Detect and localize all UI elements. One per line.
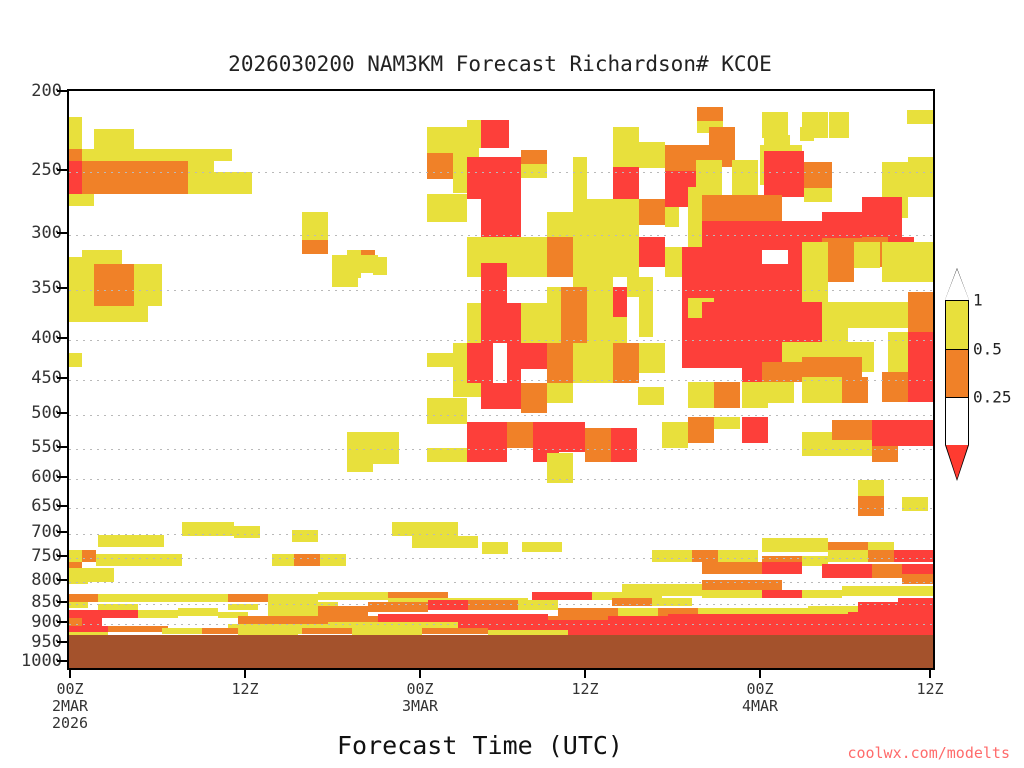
heatmap-cell: [88, 568, 114, 582]
heatmap-cell: [68, 149, 82, 161]
heatmap-cell: [208, 522, 234, 536]
heatmap-cell: [862, 197, 902, 237]
heatmap-cell: [178, 608, 218, 616]
heatmap-cell: [82, 550, 96, 562]
heatmap-cell: [182, 522, 208, 536]
y-tick-label-750: 750: [0, 546, 62, 566]
heatmap-cell: [547, 343, 573, 383]
heatmap-cells: [69, 91, 933, 668]
heatmap-cell: [68, 602, 88, 608]
heatmap-cell: [68, 568, 88, 584]
heatmap-cell: [268, 606, 318, 616]
heatmap-cell: [868, 550, 894, 562]
colorbar-segment-0.25: [945, 397, 969, 445]
heatmap-cell: [652, 550, 692, 562]
heatmap-cell: [532, 592, 592, 600]
heatmap-cell: [872, 420, 898, 446]
heatmap-cell: [638, 387, 664, 405]
heatmap-cell: [908, 157, 934, 197]
heatmap-cell: [894, 550, 934, 562]
heatmap-cell: [622, 584, 672, 596]
y-tick-mark: [57, 90, 67, 92]
y-tick-mark: [57, 232, 67, 234]
y-tick-label-350: 350: [0, 278, 62, 298]
heatmap-cell: [613, 199, 639, 237]
heatmap-cell: [908, 242, 934, 282]
x-tick-mark: [929, 670, 931, 678]
colorbar-label-0.5: 0.5: [973, 340, 1002, 359]
y-tick-label-700: 700: [0, 522, 62, 542]
heatmap-cell: [613, 127, 639, 167]
y-tick-label-600: 600: [0, 467, 62, 487]
heatmap-cell: [467, 343, 493, 383]
heatmap-cell: [507, 422, 533, 448]
heatmap-cell: [82, 161, 188, 194]
heatmap-cell: [318, 592, 388, 600]
heatmap-cell: [467, 422, 507, 462]
heatmap-cell: [872, 446, 898, 462]
heatmap-cell: [98, 535, 138, 547]
heatmap-cell: [481, 199, 521, 237]
watermark-link[interactable]: coolwx.com/modelts: [847, 744, 1010, 762]
heatmap-cell: [613, 167, 639, 199]
heatmap-cell: [842, 377, 868, 403]
heatmap-cell: [481, 120, 509, 148]
colorbar-under-arrow: [946, 445, 968, 479]
heatmap-cell: [428, 600, 468, 610]
colorbar-label-1: 1: [973, 291, 983, 310]
heatmap-cell: [702, 580, 742, 590]
heatmap-cell: [507, 237, 547, 277]
colorbar-divider: [945, 300, 969, 301]
y-tick-mark: [57, 337, 67, 339]
y-tick-mark: [57, 287, 67, 289]
heatmap-cell: [156, 554, 182, 566]
heatmap-cell: [521, 383, 547, 413]
heatmap-cell: [714, 417, 740, 429]
heatmap-cell: [427, 153, 453, 179]
y-tick-mark: [57, 446, 67, 448]
heatmap-cell: [68, 161, 82, 194]
heatmap-cell: [82, 250, 122, 264]
heatmap-cell: [427, 398, 467, 424]
colorbar-segment-0.5: [945, 349, 969, 397]
heatmap-cell: [320, 554, 346, 566]
heatmap-cell: [481, 383, 521, 409]
heatmap-cell: [764, 151, 804, 197]
heatmap-cell: [902, 574, 934, 584]
heatmap-cell: [202, 628, 238, 634]
heatmap-cell: [898, 420, 934, 446]
heatmap-cell: [828, 242, 854, 282]
y-tick-mark: [57, 555, 67, 557]
colorbar-over-arrow: [945, 269, 969, 300]
heatmap-cell: [547, 383, 573, 403]
heatmap-cell: [302, 628, 352, 634]
y-tick-label-650: 650: [0, 496, 62, 516]
colorbar-segment-1: [945, 300, 969, 349]
heatmap-cell: [388, 592, 448, 598]
y-tick-mark: [57, 377, 67, 379]
heatmap-cell: [228, 604, 258, 610]
heatmap-cell: [68, 306, 134, 322]
x-axis-title: Forecast Time (UTC): [180, 731, 780, 760]
heatmap-cell: [892, 586, 934, 596]
heatmap-cell: [728, 614, 788, 622]
heatmap-cell: [639, 297, 653, 337]
heatmap-cell: [521, 150, 547, 164]
heatmap-cell: [332, 255, 358, 287]
heatmap-cell: [368, 602, 428, 612]
heatmap-cell: [802, 357, 862, 377]
heatmap-cell: [427, 353, 453, 367]
heatmap-cell: [832, 440, 872, 456]
heatmap-cell: [82, 264, 94, 306]
heatmap-cell: [238, 616, 308, 624]
heatmap-cell: [611, 428, 637, 462]
heatmap-cell: [742, 382, 768, 408]
heatmap-cell: [714, 382, 740, 408]
heatmap-cell: [639, 199, 665, 225]
heatmap-cell: [573, 237, 587, 287]
x-tick-mark: [69, 670, 71, 678]
heatmap-cell: [618, 608, 658, 616]
heatmap-cell: [438, 536, 478, 548]
heatmap-cell: [762, 562, 802, 574]
heatmap-cell: [98, 610, 138, 618]
heatmap-cell: [134, 284, 162, 306]
heatmap-cell: [800, 127, 814, 141]
heatmap-cell: [639, 343, 665, 373]
heatmap-cell: [468, 600, 518, 610]
heatmap-cell: [482, 542, 508, 554]
heatmap-cell: [688, 417, 714, 443]
heatmap-cell: [68, 194, 94, 206]
y-tick-label-900: 900: [0, 612, 62, 632]
heatmap-cell: [432, 522, 458, 536]
y-tick-label-450: 450: [0, 368, 62, 388]
heatmap-cell: [521, 164, 547, 178]
heatmap-cell: [68, 618, 82, 626]
heatmap-cell: [802, 590, 842, 598]
heatmap-cell: [559, 422, 585, 452]
heatmap-cell: [573, 157, 587, 209]
heatmap-cell: [665, 207, 679, 227]
x-tick-label-2: 00Z 3MAR: [402, 681, 438, 715]
heatmap-cell: [828, 550, 868, 562]
y-tick-mark: [57, 601, 67, 603]
y-tick-label-950: 950: [0, 632, 62, 652]
heatmap-cell: [467, 303, 481, 343]
heatmap-cell: [82, 618, 102, 626]
heatmap-cell: [804, 188, 832, 202]
heatmap-cell: [467, 120, 481, 148]
y-tick-mark: [57, 412, 67, 414]
heatmap-cell: [882, 372, 908, 402]
y-tick-mark: [57, 531, 67, 533]
heatmap-cell: [908, 332, 934, 372]
terrain-ground-fill: [69, 635, 933, 668]
heatmap-cell: [392, 522, 432, 536]
colorbar-bottom-edge: [945, 397, 969, 398]
x-tick-mark: [419, 670, 421, 678]
y-tick-mark: [57, 505, 67, 507]
y-tick-mark: [57, 621, 67, 623]
heatmap-cell: [662, 422, 688, 448]
heatmap-cell: [268, 594, 318, 602]
heatmap-cell: [802, 377, 842, 403]
heatmap-cell: [742, 417, 768, 443]
y-tick-label-250: 250: [0, 160, 62, 180]
heatmap-cell: [68, 353, 82, 367]
heatmap-cell: [427, 448, 467, 462]
heatmap-cell: [872, 564, 902, 578]
heatmap-cell: [612, 598, 652, 606]
x-tick-mark: [584, 670, 586, 678]
colorbar: 10.50.25: [945, 300, 969, 445]
heatmap-cell: [302, 212, 328, 240]
heatmap-cell: [613, 343, 639, 383]
chart-title: 2026030200 NAM3KM Forecast Richardson# K…: [0, 52, 1000, 76]
heatmap-cell: [318, 606, 368, 616]
y-tick-mark: [57, 641, 67, 643]
heatmap-cell: [762, 590, 802, 598]
heatmap-cell: [802, 432, 832, 456]
heatmap-cell: [585, 428, 611, 462]
heatmap-cell: [522, 542, 562, 552]
heatmap-cell: [702, 302, 822, 342]
heatmap-cell: [832, 420, 872, 440]
heatmap-cell: [292, 530, 318, 542]
x-tick-label-0: 00Z 2MAR 2026: [52, 681, 88, 732]
heatmap-cell: [521, 343, 547, 369]
heatmap-cell: [692, 550, 718, 562]
heatmap-cell: [668, 614, 728, 622]
heatmap-cell: [134, 264, 162, 284]
heatmap-cell: [702, 195, 782, 221]
heatmap-cell: [764, 135, 790, 151]
y-tick-label-200: 200: [0, 81, 62, 101]
x-tick-mark: [244, 670, 246, 678]
heatmap-cell: [558, 608, 618, 616]
heatmap-cell: [214, 172, 252, 194]
heatmap-cell: [453, 383, 481, 397]
heatmap-cell: [294, 554, 320, 566]
heatmap-cell: [762, 362, 802, 382]
x-tick-label-5: 12Z: [916, 681, 943, 698]
heatmap-cell: [652, 598, 692, 606]
heatmap-cell: [587, 199, 613, 237]
y-tick-label-400: 400: [0, 328, 62, 348]
heatmap-cell: [697, 107, 723, 121]
y-tick-mark: [57, 579, 67, 581]
y-tick-label-500: 500: [0, 403, 62, 423]
chart-root: 2026030200 NAM3KM Forecast Richardson# K…: [0, 0, 1024, 768]
heatmap-cell: [702, 590, 762, 598]
heatmap-cell: [682, 342, 742, 368]
heatmap-cell: [688, 382, 714, 408]
heatmap-cell: [188, 161, 214, 194]
heatmap-cell: [518, 600, 558, 610]
heatmap-cell: [96, 554, 156, 566]
heatmap-cell: [802, 242, 828, 302]
heatmap-cell: [639, 142, 665, 168]
heatmap-cell: [412, 536, 438, 548]
heatmap-cell: [467, 157, 521, 199]
heatmap-plot-area: [67, 89, 935, 670]
heatmap-cell: [481, 303, 521, 343]
y-tick-label-550: 550: [0, 437, 62, 457]
heatmap-cell: [272, 554, 294, 566]
heatmap-cell: [138, 535, 164, 547]
heatmap-cell: [842, 586, 892, 596]
heatmap-cell: [822, 564, 872, 578]
x-tick-label-1: 12Z: [231, 681, 258, 698]
y-tick-mark: [57, 660, 67, 662]
heatmap-cell: [467, 237, 481, 277]
heatmap-cell: [829, 112, 849, 138]
heatmap-cell: [228, 594, 268, 602]
heatmap-cell: [378, 614, 428, 622]
heatmap-cell: [453, 343, 467, 383]
heatmap-cell: [718, 550, 758, 562]
heatmap-cell: [587, 237, 613, 287]
y-tick-label-800: 800: [0, 570, 62, 590]
heatmap-cell: [639, 237, 665, 267]
heatmap-cell: [848, 302, 888, 328]
heatmap-cell: [138, 610, 178, 618]
heatmap-cell: [547, 453, 573, 483]
heatmap-cell: [68, 594, 98, 602]
heatmap-cell: [804, 162, 832, 188]
heatmap-cell: [358, 255, 378, 273]
heatmap-cell: [822, 302, 848, 342]
heatmap-cell: [94, 129, 134, 149]
heatmap-cell: [858, 496, 884, 516]
heatmap-cell: [507, 343, 521, 383]
heatmap-cell: [427, 194, 467, 222]
heatmap-cell: [234, 526, 260, 538]
heatmap-cell: [82, 149, 232, 161]
heatmap-cell: [613, 237, 639, 277]
heatmap-cell: [854, 242, 880, 268]
heatmap-cell: [547, 287, 561, 343]
heatmap-cell: [573, 343, 613, 383]
y-tick-label-300: 300: [0, 223, 62, 243]
colorbar-label-0.25: 0.25: [973, 388, 1012, 407]
heatmap-cell: [108, 626, 168, 632]
heatmap-cell: [162, 628, 202, 634]
heatmap-cell: [94, 264, 134, 306]
heatmap-cell: [427, 127, 453, 153]
heatmap-cell: [882, 242, 908, 282]
x-tick-mark: [759, 670, 761, 678]
heatmap-cell: [168, 594, 228, 602]
heatmap-cell: [627, 277, 653, 297]
heatmap-cell: [481, 263, 507, 303]
heatmap-cell: [762, 250, 788, 264]
heatmap-cell: [373, 432, 399, 464]
x-tick-label-3: 12Z: [571, 681, 598, 698]
heatmap-cell: [481, 237, 507, 263]
heatmap-cell: [68, 117, 82, 149]
heatmap-cell: [788, 538, 828, 552]
heatmap-cell: [613, 287, 627, 317]
heatmap-cell: [68, 610, 98, 618]
heatmap-cell: [742, 580, 782, 590]
heatmap-cell: [422, 628, 488, 634]
heatmap-cell: [732, 160, 758, 200]
y-tick-mark: [57, 476, 67, 478]
heatmap-cell: [547, 212, 573, 237]
y-tick-label-1000: 1000: [0, 651, 62, 671]
heatmap-cell: [908, 372, 934, 402]
heatmap-cell: [902, 497, 928, 511]
heatmap-cell: [98, 594, 168, 602]
y-tick-label-850: 850: [0, 592, 62, 612]
heatmap-cell: [762, 538, 788, 552]
heatmap-cell: [347, 432, 373, 472]
colorbar-divider: [945, 349, 969, 350]
y-tick-mark: [57, 169, 67, 171]
x-tick-label-4: 00Z 4MAR: [742, 681, 778, 715]
heatmap-cell: [302, 240, 328, 254]
heatmap-cell: [907, 110, 933, 124]
heatmap-cell: [702, 562, 762, 574]
heatmap-cell: [908, 292, 934, 332]
heatmap-cell: [822, 212, 862, 238]
